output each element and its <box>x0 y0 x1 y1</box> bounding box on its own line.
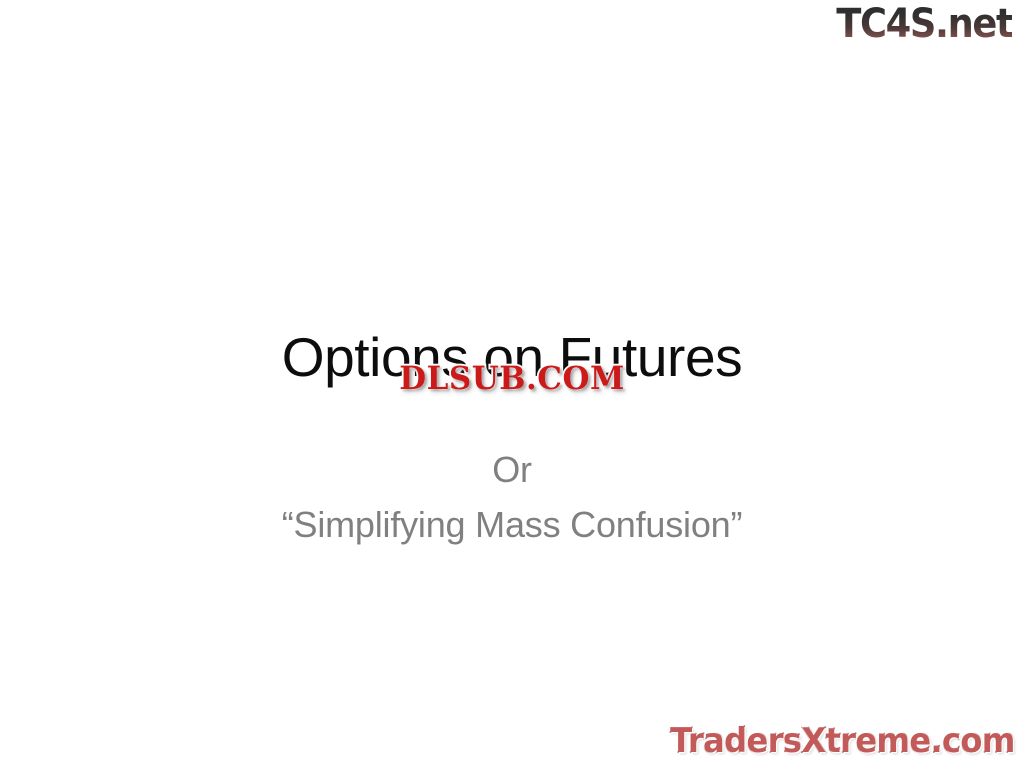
watermark-tc4s-net: TC4S.net <box>836 2 1012 46</box>
watermark-tradersxtreme-com: TradersXtreme.com <box>671 722 1015 760</box>
slide-subtitle-line-2: “Simplifying Mass Confusion” <box>0 496 1024 554</box>
presentation-slide: TC4S.net Options on Futures DLSUB.COM Or… <box>0 0 1024 768</box>
slide-title: Options on Futures <box>0 327 1024 387</box>
slide-subtitle-line-1: Or <box>0 444 1024 496</box>
slide-subtitle: Or “Simplifying Mass Confusion” <box>0 444 1024 554</box>
